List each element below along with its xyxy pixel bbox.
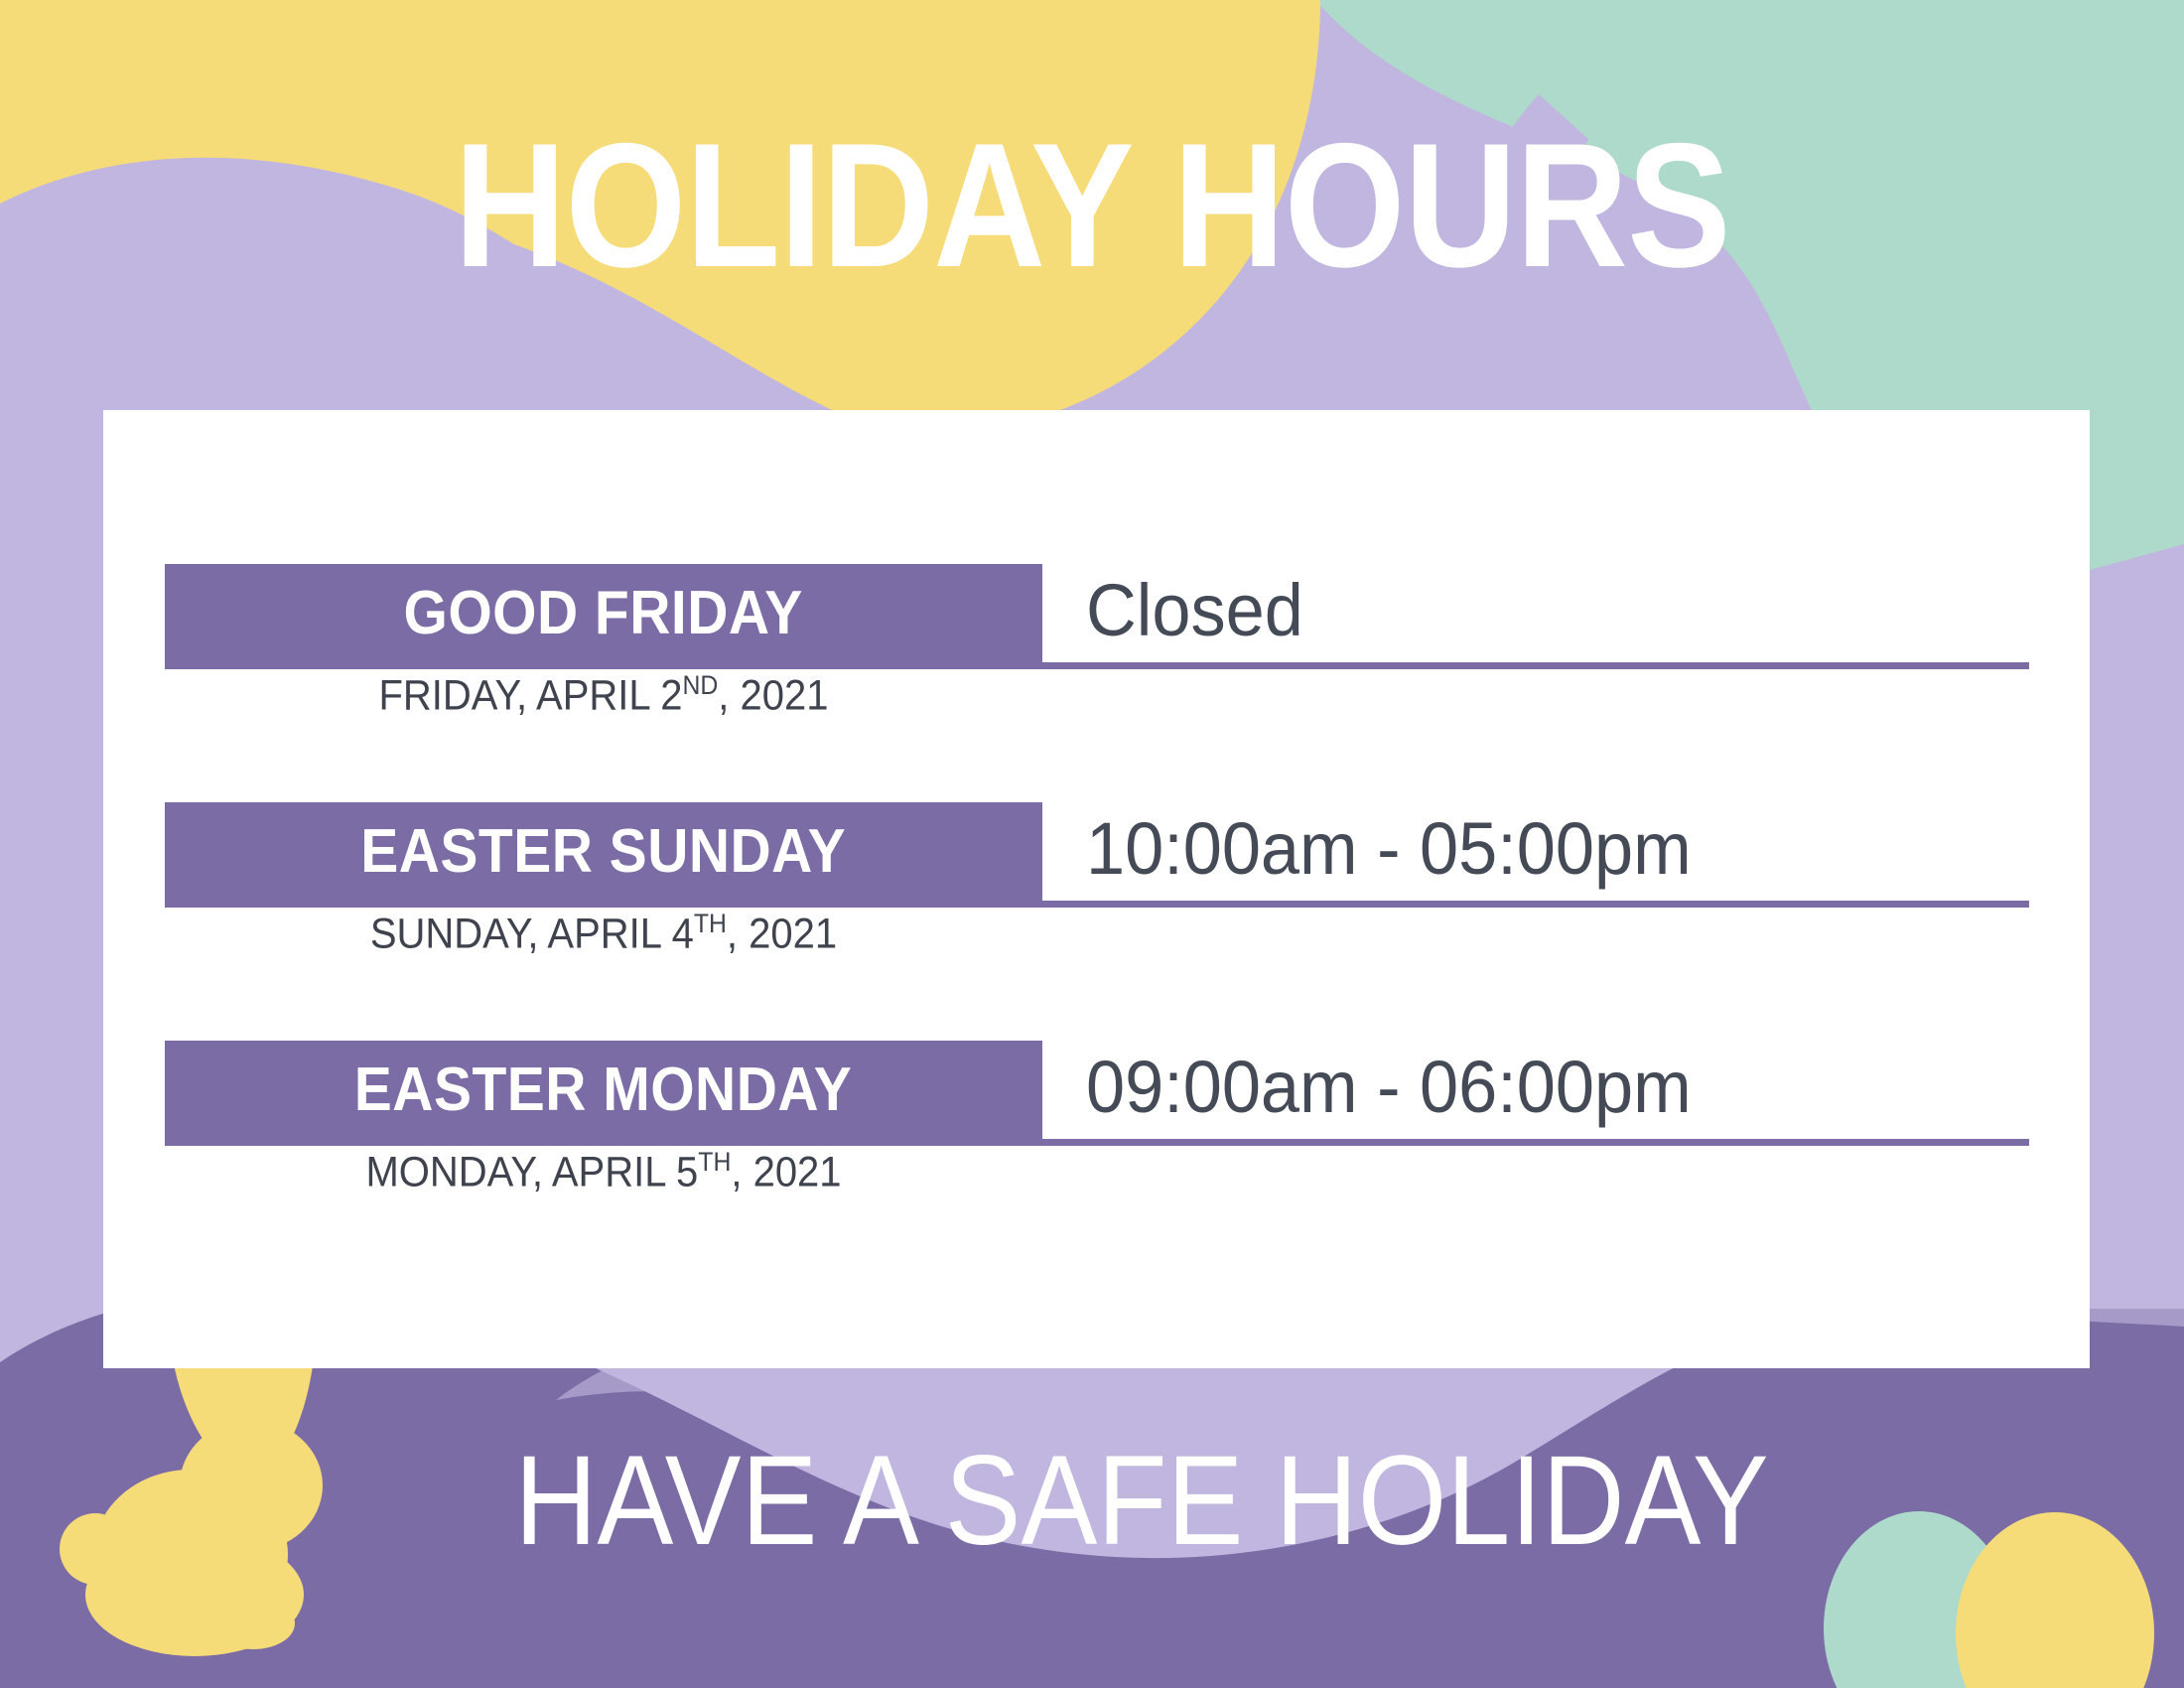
- row-underline: [165, 901, 2029, 908]
- holiday-date-ordinal: ND: [682, 670, 718, 700]
- schedule-list: GOOD FRIDAY FRIDAY, APRIL 2ND, 2021 Clos…: [103, 410, 2090, 1368]
- page-title: HOLIDAY HOURS: [131, 117, 2053, 294]
- poster-canvas: HOLIDAY HOURS GOOD FRIDAY FRIDAY, APRIL …: [0, 0, 2184, 1688]
- holiday-date-suffix: , 2021: [731, 1148, 841, 1196]
- holiday-name-bar: EASTER SUNDAY: [165, 802, 1042, 901]
- holiday-name: EASTER MONDAY: [354, 1055, 852, 1125]
- holiday-date-ordinal: TH: [694, 909, 727, 938]
- holiday-hours: Closed: [1086, 561, 1982, 659]
- holiday-date-prefix: FRIDAY, APRIL 2: [379, 671, 683, 719]
- holiday-hours: 09:00am - 06:00pm: [1086, 1038, 1982, 1136]
- holiday-name: EASTER SUNDAY: [361, 816, 847, 887]
- holiday-date-suffix: , 2021: [718, 671, 828, 719]
- holiday-name-bar: EASTER MONDAY: [165, 1041, 1042, 1139]
- footer-message: HAVE A SAFE HOLIDAY: [382, 1438, 1901, 1565]
- holiday-hours: 10:00am - 05:00pm: [1086, 799, 1982, 898]
- row-underline: [165, 662, 2029, 669]
- holiday-date-prefix: SUNDAY, APRIL 4: [370, 910, 694, 957]
- holiday-date-suffix: , 2021: [727, 910, 837, 957]
- holiday-date: SUNDAY, APRIL 4TH, 2021: [196, 909, 1012, 958]
- holiday-date-ordinal: TH: [698, 1147, 731, 1177]
- schedule-card: GOOD FRIDAY FRIDAY, APRIL 2ND, 2021 Clos…: [103, 410, 2090, 1368]
- holiday-date-prefix: MONDAY, APRIL 5: [365, 1148, 698, 1196]
- holiday-date: FRIDAY, APRIL 2ND, 2021: [196, 670, 1012, 720]
- holiday-name-bar: GOOD FRIDAY: [165, 564, 1042, 662]
- holiday-date: MONDAY, APRIL 5TH, 2021: [196, 1147, 1012, 1196]
- row-underline: [165, 1139, 2029, 1146]
- holiday-name: GOOD FRIDAY: [404, 578, 803, 648]
